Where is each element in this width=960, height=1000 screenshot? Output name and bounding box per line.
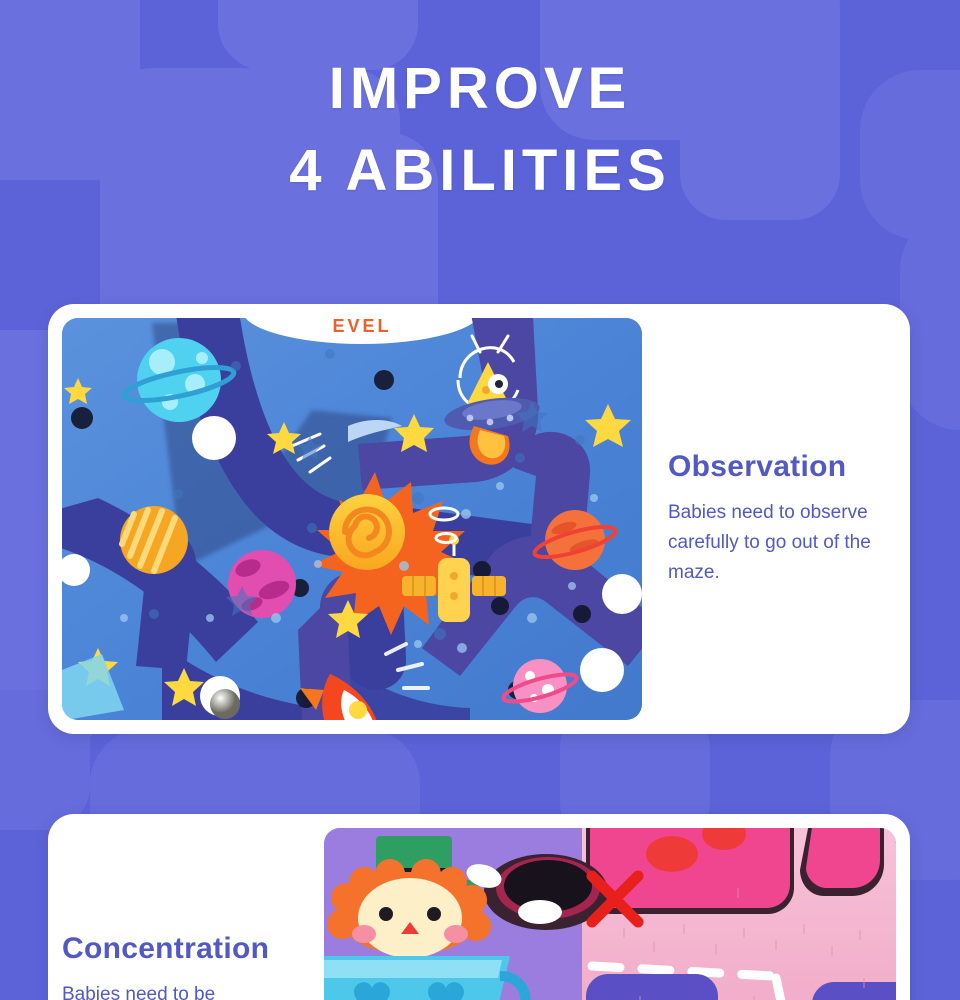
page-title-line-2: 4 ABILITIES bbox=[0, 130, 960, 212]
space-maze-illustration: EVEL bbox=[62, 318, 642, 720]
pink-maze-illustration bbox=[324, 828, 896, 1000]
card-description-concentration: Babies need to be bbox=[62, 980, 300, 1000]
card-description-observation: Babies need to observe carefully to go o… bbox=[668, 498, 886, 588]
concentration-card-body: Concentration Babies need to be bbox=[48, 814, 324, 1000]
page-title-line-1: IMPROVE bbox=[0, 48, 960, 130]
page-title: IMPROVE 4 ABILITIES bbox=[0, 48, 960, 212]
planet-orange-striped-icon bbox=[120, 506, 188, 574]
ability-card-concentration[interactable]: Concentration Babies need to be bbox=[48, 814, 910, 1000]
space-maze-board-photo: EVEL bbox=[62, 318, 642, 720]
observation-card-body: Observation Babies need to observe caref… bbox=[642, 304, 910, 734]
board-label-text: EVEL bbox=[332, 318, 391, 336]
ability-card-observation[interactable]: EVEL bbox=[48, 304, 910, 734]
pink-maze-board-photo bbox=[324, 828, 896, 1000]
card-title-observation: Observation bbox=[668, 450, 886, 484]
card-title-concentration: Concentration bbox=[62, 932, 300, 966]
